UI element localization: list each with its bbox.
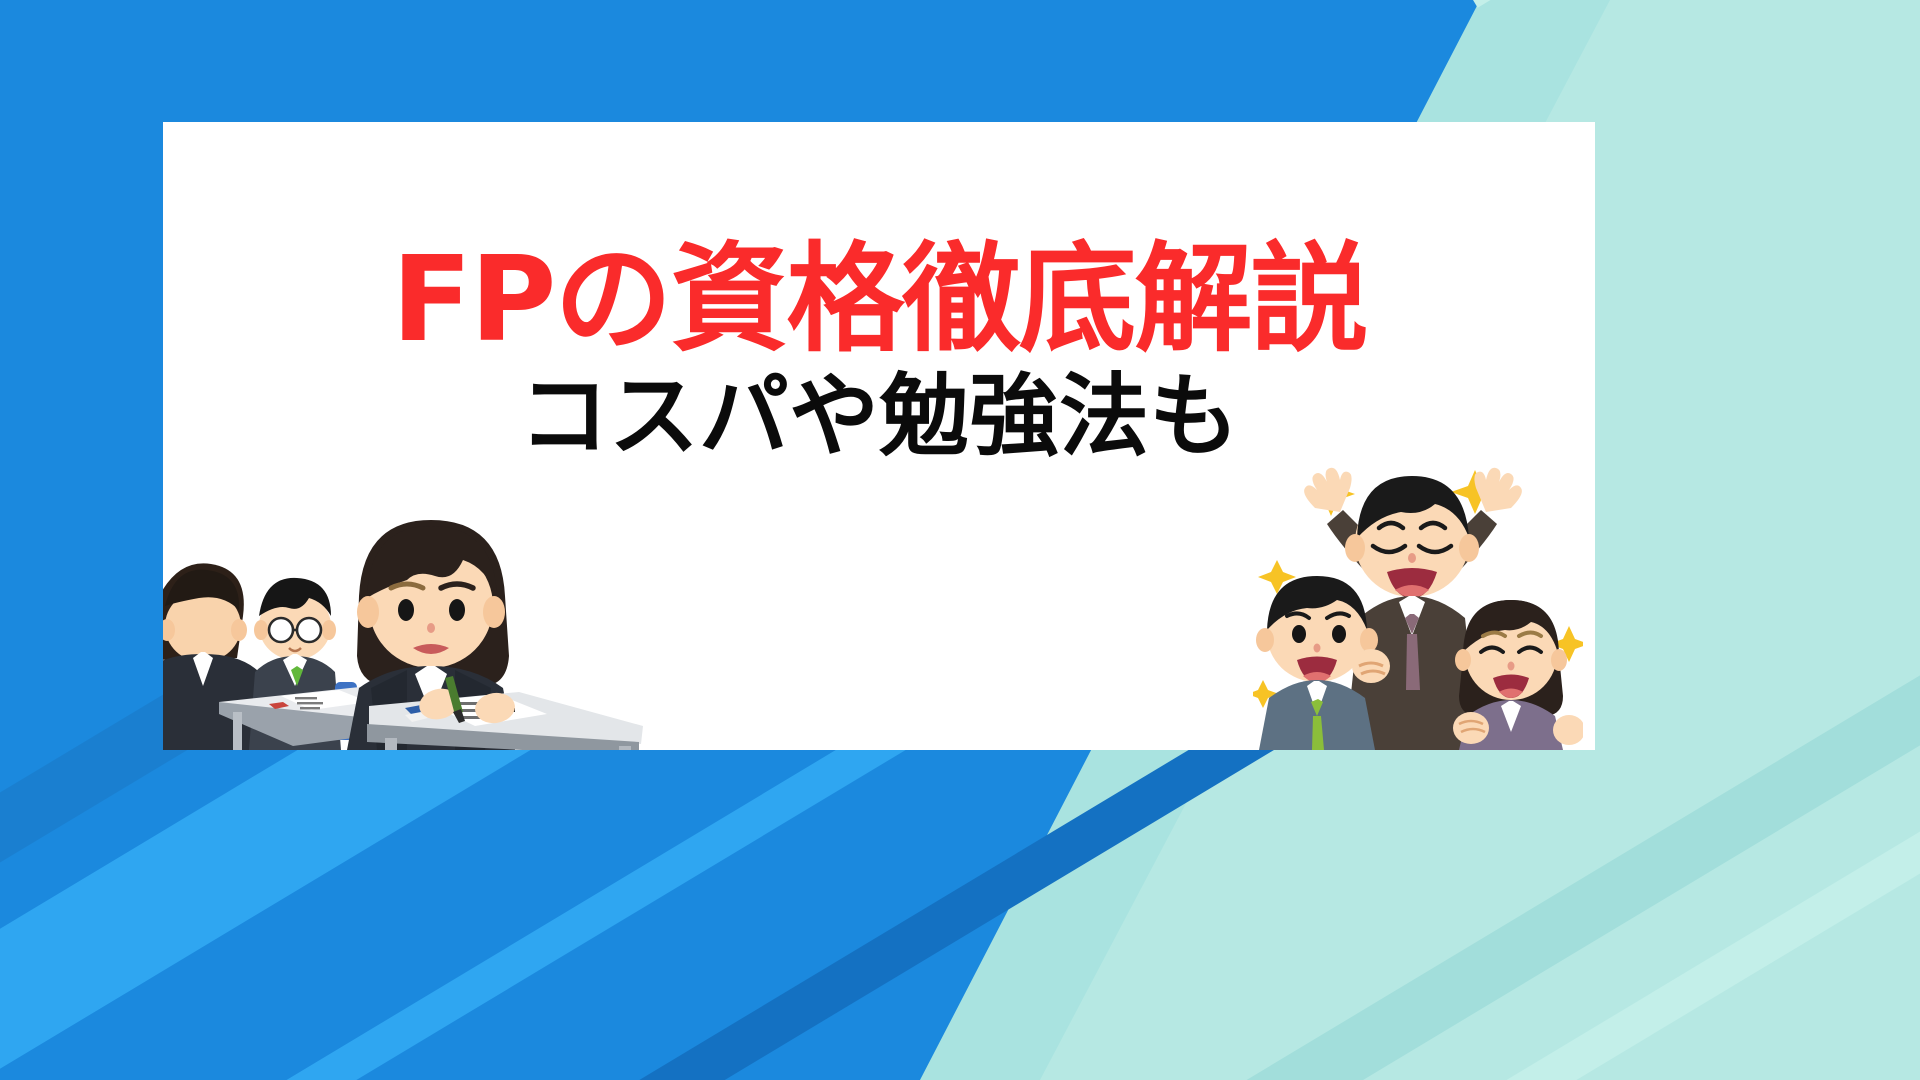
page-title: FPの資格徹底解説	[163, 240, 1595, 358]
thumbnail-canvas: FPの資格徹底解説 コスパや勉強法も	[0, 0, 1920, 1080]
celebration-illustration	[1253, 450, 1583, 750]
content-card: FPの資格徹底解説 コスパや勉強法も	[163, 122, 1595, 750]
celebrating-woman-right	[1453, 600, 1583, 750]
celebrating-man-left	[1256, 576, 1390, 750]
exam-room-illustration	[163, 420, 643, 750]
